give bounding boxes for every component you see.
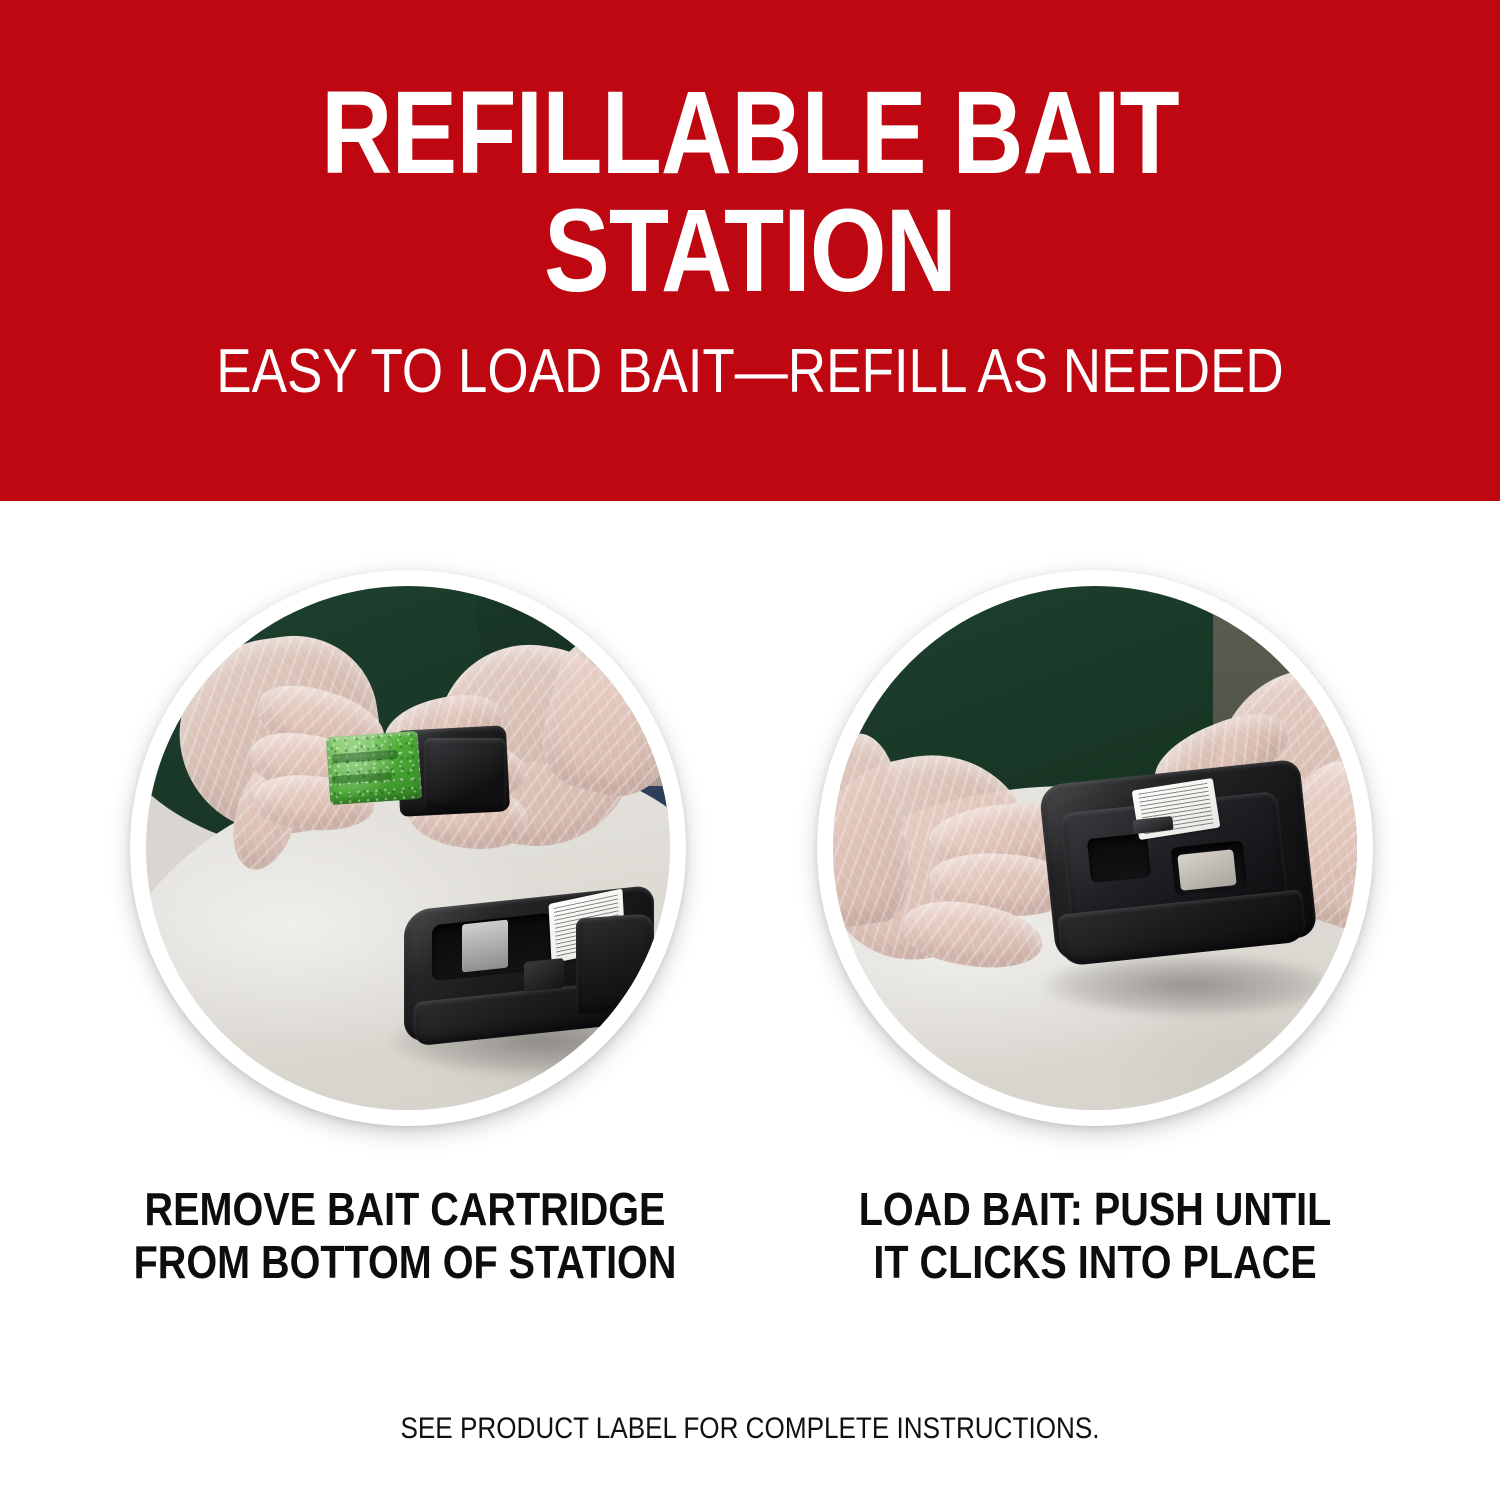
bait-cartridge-face xyxy=(424,738,506,810)
step-caption-load: LOAD BAIT: PUSH UNTIL IT CLICKS INTO PLA… xyxy=(794,1183,1396,1289)
caption-line-1: LOAD BAIT: PUSH UNTIL xyxy=(794,1183,1396,1236)
header-banner: REFILLABLE BAIT STATION EASY TO LOAD BAI… xyxy=(0,0,1500,501)
caption-line-2: IT CLICKS INTO PLACE xyxy=(794,1236,1396,1289)
step-caption-remove: REMOVE BAIT CARTRIDGE FROM BOTTOM OF STA… xyxy=(104,1183,706,1289)
green-bait-block xyxy=(326,731,423,805)
station-right-wall xyxy=(576,913,654,1014)
title-line-2: STATION xyxy=(124,192,1377,310)
station-slot-left xyxy=(1087,833,1151,883)
cavity-divider xyxy=(462,920,508,973)
photo-remove-image xyxy=(146,586,670,1110)
cartridge-insert xyxy=(1177,849,1236,891)
footer-disclaimer: SEE PRODUCT LABEL FOR COMPLETE INSTRUCTI… xyxy=(98,1412,1403,1446)
page-title: REFILLABLE BAIT STATION xyxy=(0,74,1500,310)
step-photo-remove xyxy=(130,570,686,1126)
photo-load-image xyxy=(833,586,1357,1110)
step-photo-load xyxy=(817,570,1373,1126)
caption-line-2: FROM BOTTOM OF STATION xyxy=(104,1236,706,1289)
page-subtitle: EASY TO LOAD BAIT—REFILL AS NEEDED xyxy=(109,341,1392,403)
caption-line-1: REMOVE BAIT CARTRIDGE xyxy=(104,1183,706,1236)
title-line-1: REFILLABLE BAIT xyxy=(124,74,1377,192)
station-clip-detail xyxy=(524,958,564,992)
